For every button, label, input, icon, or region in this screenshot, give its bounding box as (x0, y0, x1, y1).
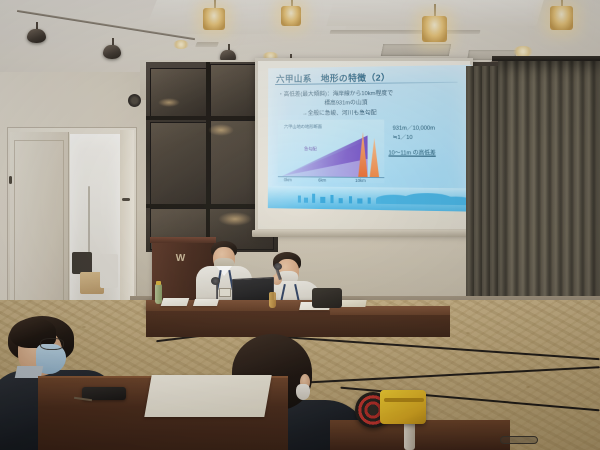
open-doorway-light (70, 134, 122, 318)
door-panel (14, 140, 64, 312)
slide-body-line-2: 標高931mの山頂 (324, 98, 367, 106)
slide-body-line-3: →全般に急峻、河川も急勾配 (302, 108, 377, 117)
skyline-building (320, 197, 325, 203)
chart-peak-1 (370, 138, 379, 177)
window-mullion (206, 62, 210, 252)
bottle-cap (156, 281, 161, 285)
lectern-top (150, 237, 216, 243)
conference-room-photo: 六甲山系 地形の特徴（2） ・高低差(最大傾斜)：海岸線から10km程度で 標高… (0, 0, 600, 450)
slide-note-2: ≒1／10 (393, 133, 413, 141)
document[interactable] (161, 298, 190, 306)
microphone-head-icon (211, 277, 220, 285)
chart-xtick-5: 10km (355, 178, 366, 183)
foreground-table-right (330, 420, 510, 450)
door-hinge-icon (9, 176, 12, 184)
speaker-left-name-badge (219, 288, 231, 297)
skyline-building (357, 198, 362, 203)
eyeglasses-icon[interactable] (500, 436, 538, 444)
hallway-equipment (100, 254, 118, 288)
slide-note-3: 10～11m の高低差 (388, 148, 435, 156)
water-bottle[interactable] (269, 292, 276, 308)
glass-reflection (218, 212, 252, 226)
glass-pane (150, 122, 208, 206)
pendant-chandelier-icon (281, 6, 301, 26)
document[interactable] (144, 375, 271, 417)
bag (312, 288, 342, 308)
terrain-cross-section-chart: 六甲山地の地形断面 急勾配 0km 6km 10km (278, 120, 384, 184)
chart-annotation-0: 六甲山地の地形断面 (284, 124, 322, 130)
side-table-front (330, 315, 450, 337)
recessed-downlight-icon (173, 40, 189, 49)
screen-bottom-bar (252, 230, 474, 237)
slide-body-line-1: ・高低差(最大傾斜)：海岸線から10km程度で (278, 89, 393, 98)
ceiling-slot (330, 30, 481, 34)
skyline-building (312, 194, 315, 203)
ceiling-slot (195, 42, 219, 47)
hallway-pole (88, 186, 90, 258)
document[interactable] (193, 299, 219, 306)
glass-reflection (208, 124, 234, 136)
equipment-case-strap (384, 398, 424, 402)
skyline-building (339, 198, 343, 203)
venue-logo: W (170, 252, 192, 266)
glass-pane (150, 68, 208, 118)
door-edge (120, 130, 134, 318)
ceiling-vent (381, 44, 452, 56)
attendee-center-face-mask (296, 384, 310, 400)
slide-skyline-illustration (268, 186, 472, 211)
presentation-slide: 六甲山系 地形の特徴（2） ・高低差(最大傾斜)：海岸線から10km程度で 標高… (268, 65, 472, 212)
window-curtain[interactable] (498, 58, 600, 316)
water-bottle[interactable] (155, 284, 162, 304)
microphone-head-icon (274, 263, 282, 270)
skyline-building (298, 196, 301, 203)
track-spotlight-icon (27, 29, 46, 43)
pendant-chandelier-icon (422, 16, 447, 42)
chart-baseline-axis (278, 176, 384, 178)
glass-reflection (158, 98, 180, 107)
ceiling-panel (143, 0, 357, 34)
hallway-equipment (72, 252, 92, 274)
door-handle-icon[interactable] (122, 198, 130, 201)
wall-speaker-icon (128, 94, 141, 107)
chart-annotation-1: 急勾配 (304, 146, 317, 152)
track-spotlight-icon (103, 45, 121, 59)
pendant-chandelier-icon (203, 8, 225, 30)
skyline-building (349, 196, 352, 203)
chart-xtick-3: 6km (318, 178, 326, 183)
skyline-building (330, 195, 333, 203)
pendant-chandelier-icon (550, 6, 573, 30)
attendee-left-glasses-icon (40, 338, 64, 350)
skyline-building (368, 197, 371, 203)
slide-note-1: 931m／10,000m (393, 123, 435, 131)
equipment-case (380, 390, 426, 424)
document-stack (339, 300, 366, 307)
curtain-rod (492, 56, 600, 61)
chart-xtick-0: 0km (284, 177, 292, 182)
skyline-building (304, 198, 308, 203)
